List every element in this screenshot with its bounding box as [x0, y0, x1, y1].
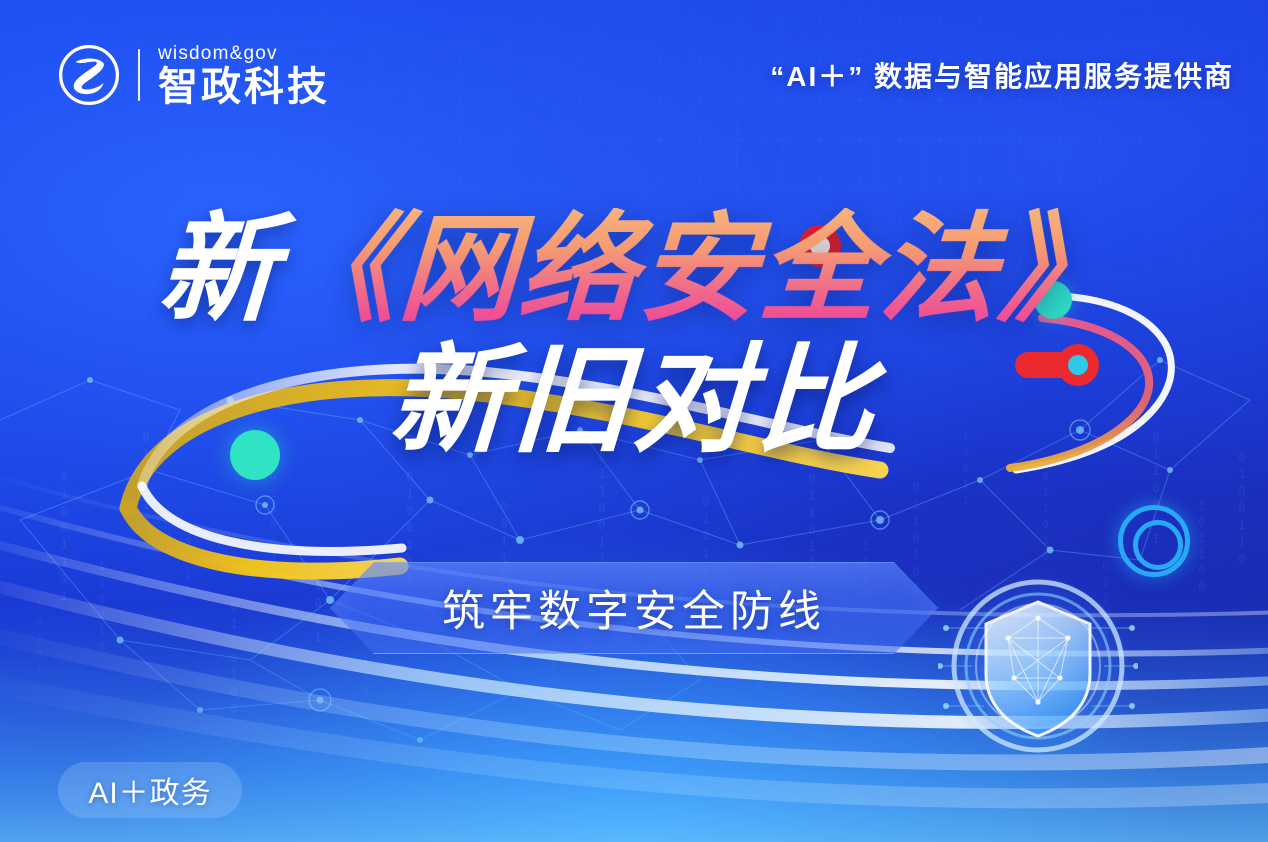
binary-column: 01001101	[58, 470, 70, 606]
title-new-char: 新	[156, 208, 283, 333]
binary-column: 0100110	[1236, 450, 1248, 569]
subtitle-banner: 筑牢数字安全防线	[330, 562, 938, 654]
circle-z-logo-icon	[56, 42, 122, 108]
title-line-2: 新旧对比	[0, 339, 1268, 464]
logo-divider	[138, 49, 140, 101]
ai-gov-badge-label: AI＋政务	[88, 768, 211, 812]
logo-english-name: wisdom&gov	[158, 43, 330, 65]
binary-column: 10101	[34, 600, 45, 680]
shield-icon	[938, 566, 1138, 766]
binary-column: 10011	[182, 520, 193, 600]
poster-header: wisdom&gov 智政科技 “AI＋” 数据与智能应用服务提供商	[0, 0, 1268, 150]
binary-column: 101100	[1196, 500, 1207, 596]
title-line-1: 新 《网络安全法》	[0, 208, 1268, 333]
main-title-block: 新 《网络安全法》 新旧对比	[0, 208, 1268, 464]
logo-chinese-name: 智政科技	[158, 66, 330, 108]
header-tagline: “AI＋” 数据与智能应用服务提供商	[770, 55, 1234, 95]
binary-column: 011010	[1040, 470, 1051, 566]
poster-canvas: 0100110111001001011011001101101001010011…	[0, 0, 1268, 842]
shield-graphic	[938, 566, 1138, 766]
binary-column: 110010	[96, 560, 107, 656]
logo-text-block: wisdom&gov 智政科技	[158, 43, 330, 108]
binary-column: 0110011	[596, 450, 608, 569]
binary-column: 011001	[312, 545, 324, 647]
ai-gov-badge[interactable]: AI＋政务	[58, 762, 242, 818]
binary-column: 0110100	[228, 600, 240, 719]
binary-column: 1010011	[268, 455, 279, 567]
binary-column: 0011011	[806, 455, 818, 574]
brand-logo[interactable]: wisdom&gov 智政科技	[56, 42, 330, 108]
subtitle-text: 筑牢数字安全防线	[330, 562, 938, 654]
title-law-name: 《网络安全法》	[276, 208, 1123, 333]
